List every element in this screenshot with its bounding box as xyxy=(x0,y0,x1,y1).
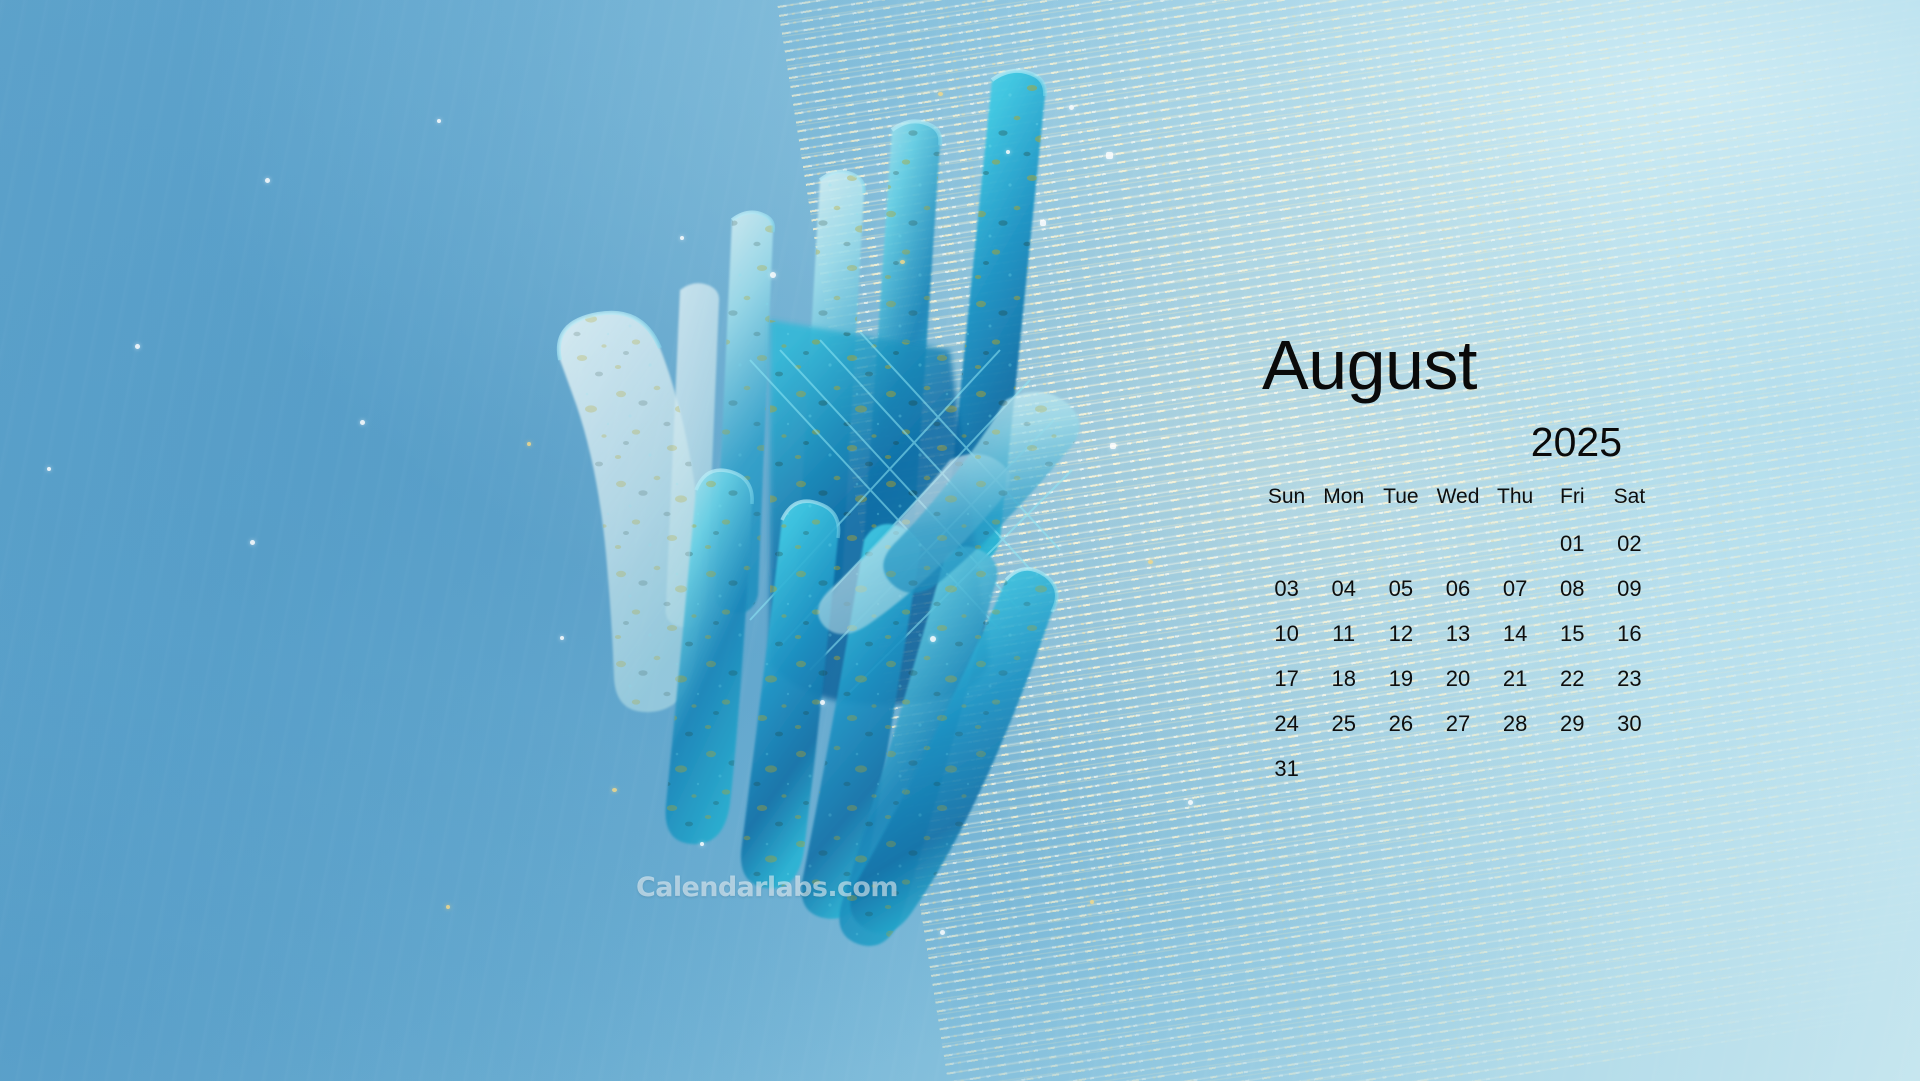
calendar-day-20: 20 xyxy=(1429,666,1486,692)
calendar-day-13: 13 xyxy=(1429,621,1486,647)
calendar-day-06: 06 xyxy=(1429,576,1486,602)
calendar-day-16: 16 xyxy=(1601,621,1658,647)
calendar-day-26: 26 xyxy=(1372,711,1429,737)
calendar-date-grid: Sun Mon Tue Wed Thu Fri Sat 010203040506… xyxy=(1258,485,1658,782)
weekday-header-fri: Fri xyxy=(1544,485,1601,512)
wallpaper-canvas: August 2025 Sun Mon Tue Wed Thu Fri Sat … xyxy=(0,0,1920,1081)
calendar-day-04: 04 xyxy=(1315,576,1372,602)
calendar-day-19: 19 xyxy=(1372,666,1429,692)
calendar-day-01: 01 xyxy=(1544,531,1601,557)
calendar-month-title: August xyxy=(1262,330,1658,400)
calendar-day-05: 05 xyxy=(1372,576,1429,602)
calendar-day-11: 11 xyxy=(1315,621,1372,647)
weekday-header-sun: Sun xyxy=(1258,485,1315,512)
site-watermark: Calendarlabs.com xyxy=(636,872,898,903)
calendar-day-30: 30 xyxy=(1601,711,1658,737)
calendar-day-31: 31 xyxy=(1258,756,1315,782)
calendar-day-24: 24 xyxy=(1258,711,1315,737)
calendar-day-28: 28 xyxy=(1487,711,1544,737)
calendar-day-08: 08 xyxy=(1544,576,1601,602)
calendar-day-22: 22 xyxy=(1544,666,1601,692)
weekday-header-thu: Thu xyxy=(1487,485,1544,512)
weekday-header-mon: Mon xyxy=(1315,485,1372,512)
calendar-day-29: 29 xyxy=(1544,711,1601,737)
calendar-day-27: 27 xyxy=(1429,711,1486,737)
calendar-day-07: 07 xyxy=(1487,576,1544,602)
calendar-day-14: 14 xyxy=(1487,621,1544,647)
calendar-day-03: 03 xyxy=(1258,576,1315,602)
calendar-day-15: 15 xyxy=(1544,621,1601,647)
calendar-day-17: 17 xyxy=(1258,666,1315,692)
calendar-day-10: 10 xyxy=(1258,621,1315,647)
weekday-header-sat: Sat xyxy=(1601,485,1658,512)
calendar-panel: August 2025 Sun Mon Tue Wed Thu Fri Sat … xyxy=(1258,330,1658,782)
calendar-day-23: 23 xyxy=(1601,666,1658,692)
calendar-year-label: 2025 xyxy=(1258,422,1658,463)
calendar-day-02: 02 xyxy=(1601,531,1658,557)
calendar-day-12: 12 xyxy=(1372,621,1429,647)
calendar-day-18: 18 xyxy=(1315,666,1372,692)
calendar-day-25: 25 xyxy=(1315,711,1372,737)
weekday-header-tue: Tue xyxy=(1372,485,1429,512)
calendar-day-21: 21 xyxy=(1487,666,1544,692)
weekday-header-wed: Wed xyxy=(1429,485,1486,512)
calendar-day-09: 09 xyxy=(1601,576,1658,602)
